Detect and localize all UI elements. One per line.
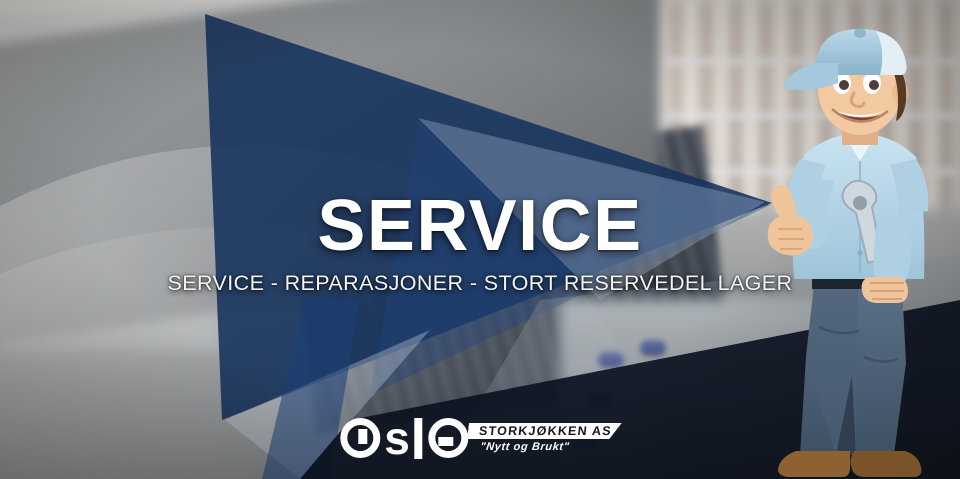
logo-text-block: STORKJØKKEN AS "Nytt og Brukt" [465, 423, 621, 453]
logo-letter-o-first-icon [340, 418, 380, 458]
mascot-shoes-icon [778, 451, 921, 477]
service-technician-mascot [756, 27, 956, 479]
logo-letter-l-icon [414, 418, 422, 459]
logo-company-name: STORKJØKKEN AS [467, 423, 621, 439]
thumbs-up-hand-icon [768, 177, 834, 256]
logo-letter-s: s [384, 415, 409, 461]
logo-letter-o-second-icon [428, 418, 468, 458]
mascot-legs-icon [800, 285, 906, 455]
logo-tagline: "Nytt og Brukt" [479, 441, 569, 453]
service-banner: SERVICE SERVICE - REPARASJONER - STORT R… [0, 0, 960, 479]
oslo-storkjokken-logo[interactable]: s STORKJØKKEN AS "Nytt og Brukt" [340, 415, 619, 461]
